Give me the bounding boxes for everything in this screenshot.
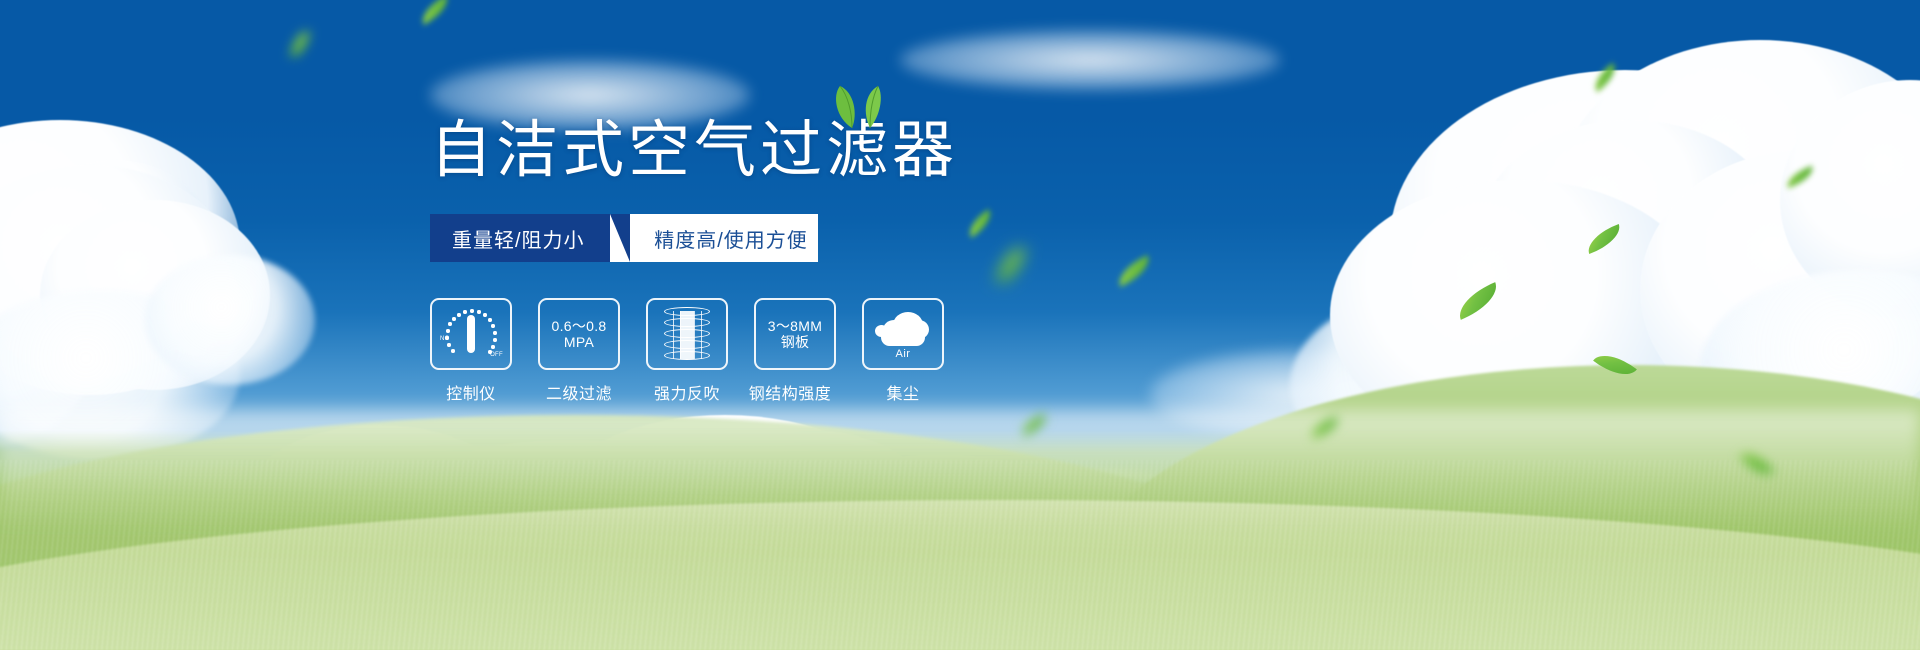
tagline-left: 重量轻/阻力小 — [430, 214, 630, 262]
air-label: Air — [875, 348, 931, 361]
air-cloud-icon: Air — [875, 308, 931, 360]
pressure-value-line1: 0.6～0.8 — [551, 318, 606, 334]
feature-box: 0.6～0.8 MPA — [538, 298, 620, 370]
tagline-ribbon: 重量轻/阻力小 精度高/使用方便 — [430, 214, 818, 262]
feature-item-steel[interactable]: 3～8MM 钢板 钢结构强度 — [754, 298, 836, 404]
pressure-value-line2: MPA — [551, 334, 606, 350]
steel-value-line1: 3～8MM — [768, 318, 822, 334]
feature-box — [646, 298, 728, 370]
dial-off-label: OFF — [490, 352, 503, 359]
product-banner: 自洁式空气过滤器 重量轻/阻力小 精度高/使用方便 — [0, 0, 1920, 650]
horizon-haze — [0, 410, 1920, 530]
tagline-left-text: 重量轻/阻力小 — [452, 224, 585, 253]
tagline-right: 精度高/使用方便 — [630, 214, 818, 262]
cloud-left — [145, 255, 315, 385]
pressure-text-icon: 0.6～0.8 MPA — [551, 318, 606, 350]
dial-gauge-icon: NO OFF — [441, 308, 501, 360]
filter-stack-icon — [664, 307, 710, 361]
feature-item-controller[interactable]: NO OFF 控制仪 — [430, 298, 512, 404]
feature-label: 强力反吹 — [646, 380, 728, 404]
feature-label: 钢结构强度 — [744, 380, 836, 404]
feature-item-filtration[interactable]: 0.6～0.8 MPA 二级过滤 — [538, 298, 620, 404]
feature-label: 控制仪 — [430, 380, 512, 404]
feature-item-backblow[interactable]: 强力反吹 — [646, 298, 728, 404]
feature-list: NO OFF 控制仪 0.6～0.8 MPA 二级过滤 — [430, 298, 958, 404]
cloud-wisp — [900, 30, 1280, 90]
feature-box: Air — [862, 298, 944, 370]
steel-value-line2: 钢板 — [768, 334, 822, 350]
feature-box: NO OFF — [430, 298, 512, 370]
feature-label: 集尘 — [862, 380, 944, 404]
sprout-leaves-icon — [830, 84, 890, 130]
feature-label: 二级过滤 — [538, 380, 620, 404]
dial-on-label: NO — [440, 336, 450, 343]
tagline-right-text: 精度高/使用方便 — [654, 224, 808, 253]
feature-box: 3～8MM 钢板 — [754, 298, 836, 370]
banner-content: 自洁式空气过滤器 重量轻/阻力小 精度高/使用方便 — [430, 120, 958, 404]
feature-item-dust[interactable]: Air 集尘 — [862, 298, 944, 404]
dial-needle — [467, 315, 475, 353]
steel-plate-text-icon: 3～8MM 钢板 — [768, 318, 822, 350]
